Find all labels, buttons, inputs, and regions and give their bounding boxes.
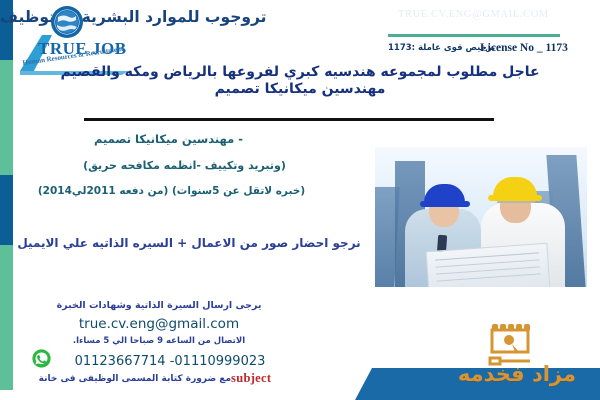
requirement-line-3: (خبره لاتقل عن 5سنوات) (من دفعه 2011لي20…: [14, 185, 359, 197]
requirement-line-2: (وتبريد وتكييف -انظمه مكافحه حريق): [14, 159, 359, 172]
calling-hours: الاتصال من الساعه 9 صباحا الي 5 مساءا.: [14, 336, 304, 346]
contact-block: يرجى ارسال السيرة الذاتية وشهادات الخبرة…: [14, 300, 304, 386]
edge-accent-bar-teal-lower: [0, 245, 13, 390]
job-advertisement-poster: تروجوب للموارد البشرية والتوظيف License …: [0, 0, 600, 400]
bottom-bar-email-text: TRUE.CV.ENG@GMAIL.COM: [398, 9, 549, 390]
edge-accent-bar-blue-middle: [0, 175, 13, 245]
contact-email[interactable]: true.cv.eng@gmail.com: [14, 316, 304, 332]
call-to-action-text: نرجو احضار صور من الاعمال + السيره الذات…: [14, 236, 364, 250]
send-cv-instruction: يرجى ارسال السيرة الذاتية وشهادات الخبرة: [14, 300, 304, 311]
requirement-line-1: - مهندسين ميكانيكا تصميم: [14, 132, 359, 146]
subject-note: مع ضرورة كتابة المسمى الوظيفى فى خانة: [39, 374, 231, 384]
edge-accent-bar-teal-upper: [0, 60, 13, 175]
job-requirements-block: - مهندسين ميكانيكا تصميم (وتبريد وتكييف …: [14, 132, 359, 197]
phone-numbers-row: 01123667714 -01110999023: [14, 350, 304, 370]
subject-keyword: subject: [231, 371, 271, 386]
whatsapp-icon[interactable]: [32, 349, 51, 368]
subject-instruction-row: subjectمع ضرورة كتابة المسمى الوظيفى فى …: [14, 371, 304, 386]
phone-numbers[interactable]: 01123667714 -01110999023: [53, 354, 266, 369]
